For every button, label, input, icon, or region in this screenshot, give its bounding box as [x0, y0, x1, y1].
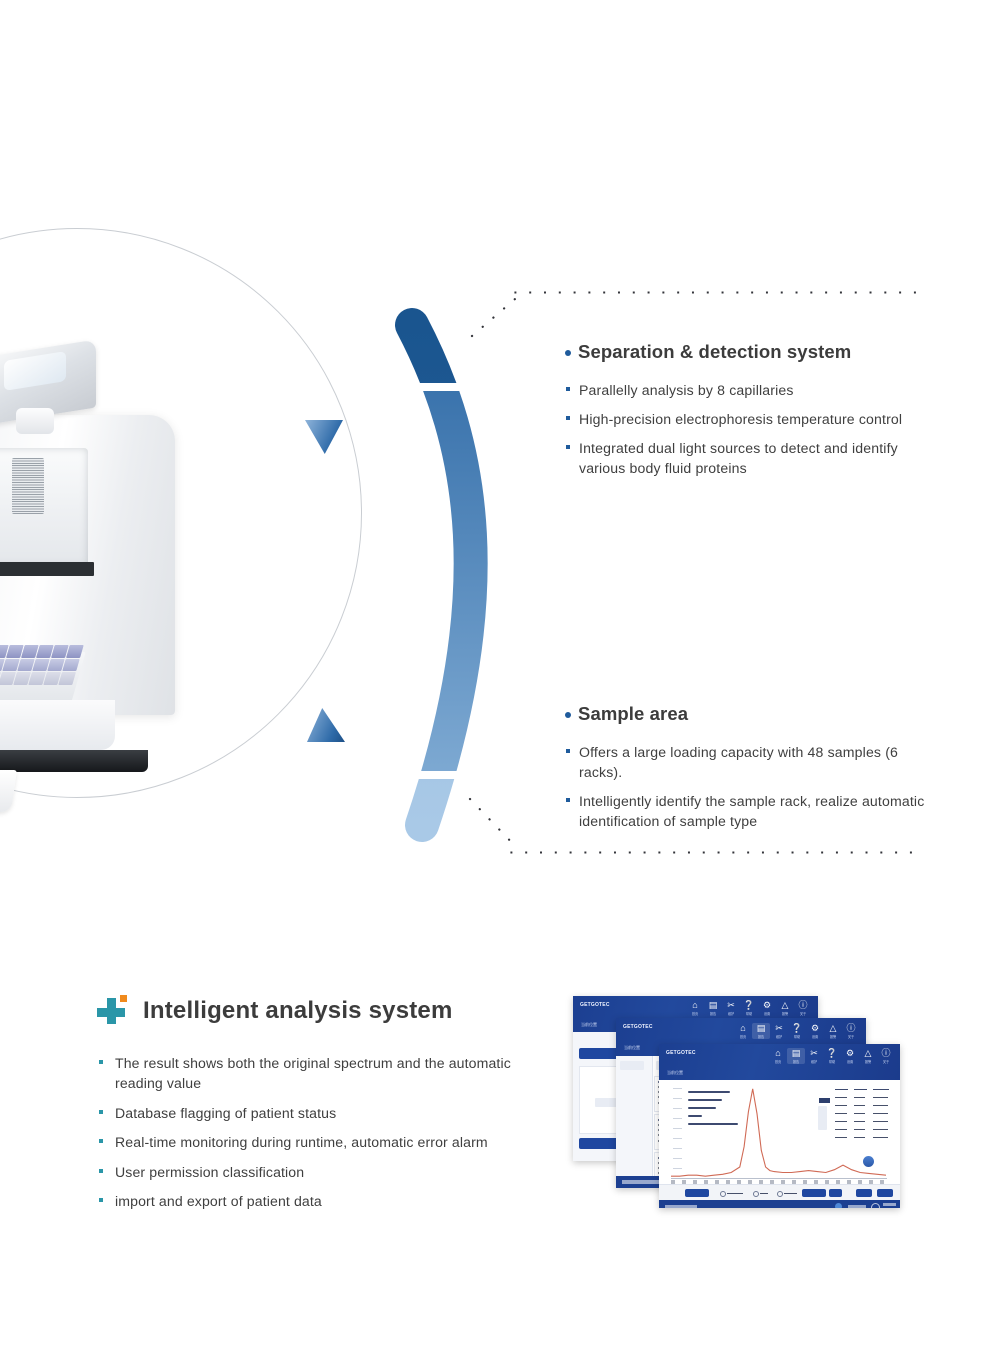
- status-clock-icon: [871, 1203, 880, 1208]
- bullet-dot-icon: [565, 712, 571, 718]
- list-item: Parallelly analysis by 8 capillaries: [565, 380, 945, 400]
- document-icon[interactable]: ▤报告: [787, 1048, 805, 1064]
- software-body: [659, 1080, 900, 1208]
- control-button[interactable]: [802, 1189, 826, 1197]
- page-title: Intelligent analysis system: [143, 997, 453, 1025]
- control-button[interactable]: [829, 1189, 842, 1197]
- list-item: Integrated dual light sources to detect …: [565, 438, 945, 478]
- device-cavity-shadow: [0, 562, 94, 576]
- help-icon[interactable]: ❔帮助: [823, 1048, 841, 1064]
- bell-icon[interactable]: △报警: [824, 1023, 842, 1039]
- software-brand-label: GETGOTEC: [580, 1002, 610, 1008]
- feature-list: Parallelly analysis by 8 capillaries Hig…: [565, 380, 945, 478]
- home-icon[interactable]: ⌂首页: [686, 1000, 704, 1016]
- dotted-connector-bottom-diagonal: [468, 795, 528, 855]
- info-icon[interactable]: ⓘ关于: [842, 1023, 860, 1039]
- help-icon[interactable]: ❔帮助: [788, 1023, 806, 1039]
- gear-icon[interactable]: ⚙设置: [806, 1023, 824, 1039]
- radio-option[interactable]: [777, 1191, 783, 1197]
- info-icon[interactable]: ⓘ关于: [794, 1000, 812, 1016]
- home-icon[interactable]: ⌂首页: [734, 1023, 752, 1039]
- table-scroll: [818, 1106, 827, 1130]
- dotted-connector-top-diagonal: [470, 288, 530, 338]
- control-button[interactable]: [877, 1189, 893, 1197]
- gear-icon[interactable]: ⚙设置: [758, 1000, 776, 1016]
- status-info-icon: [835, 1203, 842, 1208]
- segmented-arc-graphic: [380, 295, 550, 855]
- tools-icon[interactable]: ✂维护: [722, 1000, 740, 1016]
- list-item: Offers a large loading capacity with 48 …: [565, 742, 945, 782]
- software-sidebar: [616, 1056, 653, 1188]
- capillary-cartridge: [12, 458, 44, 514]
- document-icon[interactable]: ▤报告: [704, 1000, 722, 1016]
- home-icon[interactable]: ⌂首页: [769, 1048, 787, 1064]
- feature-title-row: Sample area: [565, 703, 945, 725]
- device-lower-shelf: [0, 700, 115, 750]
- software-brand-label: GETGOTEC: [623, 1024, 653, 1030]
- software-brand-label: GETGOTEC: [666, 1050, 696, 1056]
- software-window-front[interactable]: GETGOTEC 当前位置 ⌂首页 ▤报告 ✂维护 ❔帮助 ⚙设置 △报警 ⓘ关…: [659, 1044, 900, 1208]
- feature-title: Sample area: [578, 703, 688, 725]
- software-status-bar: [659, 1200, 900, 1208]
- list-item: User permission classification: [98, 1162, 528, 1182]
- bell-icon[interactable]: △报警: [859, 1048, 877, 1064]
- tools-icon[interactable]: ✂维护: [805, 1048, 823, 1064]
- gear-icon[interactable]: ⚙设置: [841, 1048, 859, 1064]
- plus-cross-icon: [96, 996, 126, 1026]
- electropherogram-chart: [671, 1086, 886, 1181]
- intelligent-analysis-list: The result shows both the original spect…: [98, 1053, 528, 1221]
- chart-x-axis: [671, 1178, 887, 1179]
- arc-segment-middle: [412, 325, 471, 825]
- feature-title-row: Separation & detection system: [565, 341, 945, 363]
- software-toolbar[interactable]: ⌂首页 ▤报告 ✂维护 ❔帮助 ⚙设置 △报警 ⓘ关于: [734, 1023, 860, 1039]
- dotted-connector-bottom-horizontal: [504, 851, 920, 854]
- tab-chip[interactable]: [620, 1061, 644, 1070]
- bullet-dot-icon: [565, 350, 571, 356]
- brochure-page: Separation & detection system Parallelly…: [0, 0, 1000, 1357]
- control-button[interactable]: [685, 1189, 709, 1197]
- feature-list: Offers a large loading capacity with 48 …: [565, 742, 945, 831]
- list-item: Real-time monitoring during runtime, aut…: [98, 1132, 528, 1152]
- control-button[interactable]: [856, 1189, 872, 1197]
- breadcrumb: 当前位置: [624, 1045, 640, 1051]
- sample-vials: [0, 645, 84, 685]
- bell-icon[interactable]: △报警: [776, 1000, 794, 1016]
- floating-action-button[interactable]: [863, 1156, 874, 1167]
- document-icon[interactable]: ▤报告: [752, 1023, 770, 1039]
- pointer-triangle-bottom: [307, 708, 345, 742]
- software-toolbar[interactable]: ⌂首页 ▤报告 ✂维护 ❔帮助 ⚙设置 △报警 ⓘ关于: [769, 1048, 895, 1064]
- radio-option[interactable]: [753, 1191, 759, 1197]
- software-control-bar: [659, 1184, 900, 1201]
- device-lid-hinge: [16, 408, 54, 434]
- tools-icon[interactable]: ✂维护: [770, 1023, 788, 1039]
- device-output-tray: [0, 770, 17, 812]
- list-item: High-precision electrophoresis temperatu…: [565, 409, 945, 429]
- help-icon[interactable]: ❔帮助: [740, 1000, 758, 1016]
- feature-title: Separation & detection system: [578, 341, 851, 363]
- info-icon[interactable]: ⓘ关于: [877, 1048, 895, 1064]
- list-item: The result shows both the original spect…: [98, 1053, 528, 1094]
- radio-option[interactable]: [720, 1191, 726, 1197]
- feature-block-separation: Separation & detection system Parallelly…: [565, 341, 945, 487]
- list-item: Database flagging of patient status: [98, 1103, 528, 1123]
- intelligent-analysis-heading: Intelligent analysis system: [96, 996, 453, 1026]
- dotted-connector-top-horizontal: [508, 291, 920, 294]
- list-item: import and export of patient data: [98, 1191, 528, 1211]
- breadcrumb: 当前位置: [581, 1022, 597, 1028]
- breadcrumb: 当前位置: [667, 1070, 683, 1076]
- software-toolbar[interactable]: ⌂首页 ▤报告 ✂维护 ❔帮助 ⚙设置 △报警 ⓘ关于: [686, 1000, 812, 1016]
- table-selection: [819, 1098, 830, 1103]
- list-item: Intelligently identify the sample rack, …: [565, 791, 945, 831]
- device-base: [0, 750, 148, 772]
- capillary-electrophoresis-analyzer-photo: [0, 300, 260, 830]
- feature-block-sample-area: Sample area Offers a large loading capac…: [565, 703, 945, 840]
